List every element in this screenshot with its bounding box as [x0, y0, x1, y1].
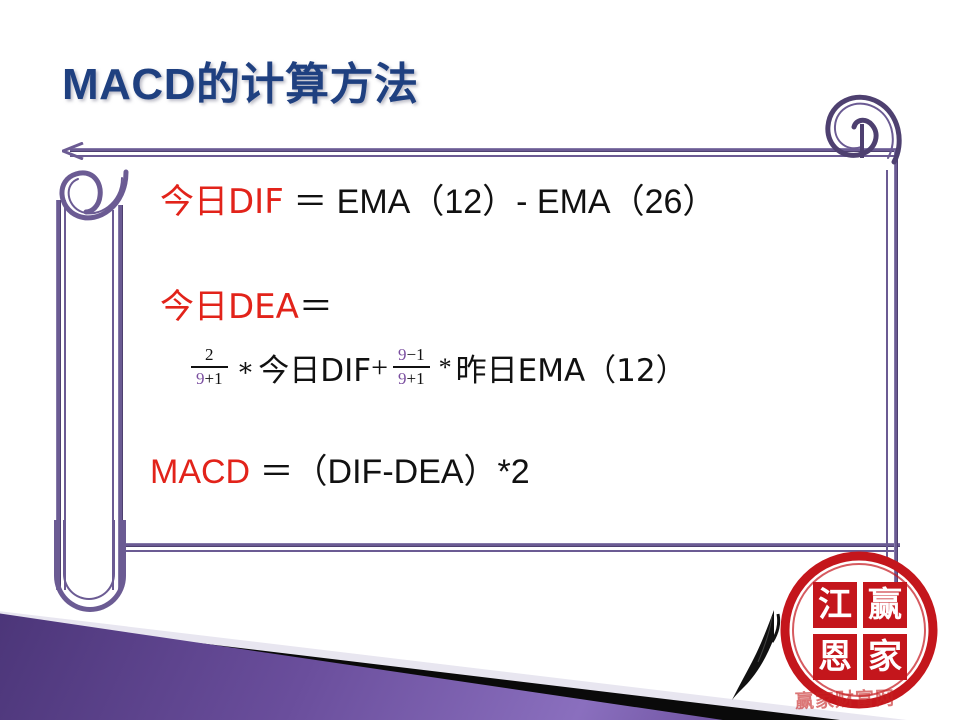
term-yesterday-ema: 昨日EMA（12） — [456, 345, 687, 390]
site-watermark: 赢家财富网 — [795, 681, 956, 717]
fraction-bar — [393, 366, 430, 368]
formula-line-dea-expansion: 2 9+1 ∗ 今日DIF + 9−1 9+1 * 昨日EMA（12） — [186, 345, 687, 390]
fraction-nine-minus-one-over-nine-plus-one: 9−1 9+1 — [393, 345, 430, 387]
formula-dif-body: ＝ EMA（12）- EMA（26） — [284, 183, 717, 221]
frame-right-rail — [894, 150, 898, 610]
operator-multiply-1: ∗ — [233, 353, 259, 383]
fraction-den-rest: +1 — [407, 369, 425, 388]
formula-macd-body: ＝（DIF-DEA）*2 — [250, 453, 530, 491]
seal-char-3: 恩 — [818, 637, 852, 677]
formula-dea-equals: ＝ — [299, 288, 333, 326]
frame-top-rail — [70, 148, 900, 152]
page-title: MACD的计算方法 — [62, 48, 418, 112]
scroll-curl-top-right-icon — [818, 88, 910, 180]
scroll-roll-bottom-inner — [63, 520, 115, 600]
formula-macd-label: MACD — [150, 453, 250, 491]
fraction-numerator: 2 — [200, 345, 219, 364]
fraction-num-digit: 9 — [398, 345, 407, 364]
fraction-denominator: 9+1 — [393, 369, 430, 388]
seal-char-2: 赢 — [868, 585, 902, 625]
scroll-tip-left-icon — [62, 142, 84, 160]
frame-top-rail-inner — [70, 155, 898, 157]
fraction-num-rest: −1 — [407, 345, 425, 364]
operator-multiply-2: * — [435, 353, 456, 383]
fraction-two-over-nine-plus-one: 2 9+1 — [191, 345, 228, 387]
fraction-den-rest: +1 — [205, 369, 223, 388]
formula-dif-label: 今日DIF — [160, 182, 284, 222]
fraction-den-digit: 9 — [398, 369, 407, 388]
fraction-numerator: 9−1 — [393, 345, 430, 364]
operator-plus: + — [371, 351, 388, 385]
formula-dea-label: 今日DEA — [160, 287, 299, 327]
formula-line-dif: 今日DIF ＝ EMA（12）- EMA（26） — [160, 185, 716, 221]
formula-line-macd: MACD ＝（DIF-DEA）*2 — [150, 455, 530, 491]
fraction-bar — [191, 366, 228, 368]
scroll-curl-top-left-icon — [52, 162, 140, 250]
seal-char-1: 江 — [818, 585, 852, 625]
term-today-dif: 今日DIF — [258, 345, 371, 390]
fraction-denominator: 9+1 — [191, 369, 228, 388]
fraction-den-digit: 9 — [196, 369, 205, 388]
frame-right-rail-inner — [886, 170, 888, 562]
slide-canvas: MACD的计算方法 今日DIF ＝ EMA（12）- EMA（26） 今日DEA… — [0, 0, 960, 720]
seal-char-4: 家 — [868, 637, 902, 677]
formula-line-dea: 今日DEA＝ — [160, 290, 333, 326]
